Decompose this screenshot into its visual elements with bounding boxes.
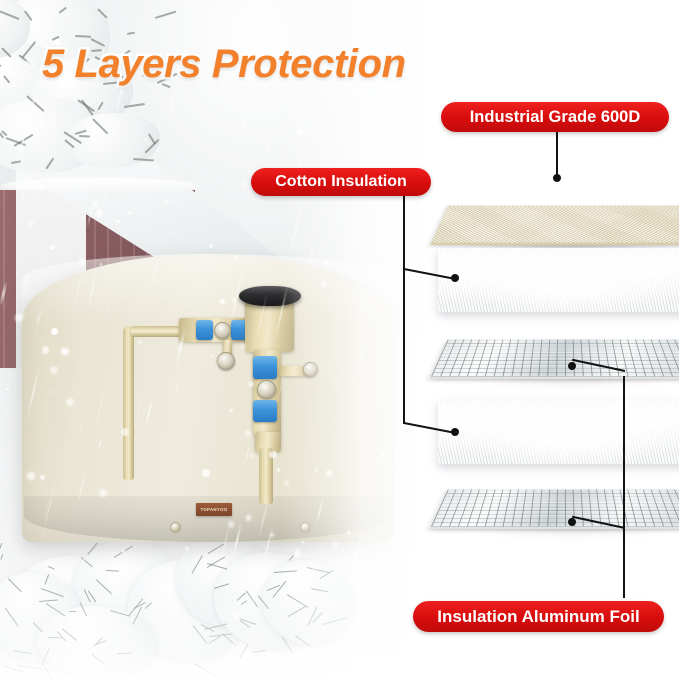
label-insulation-aluminum-foil[interactable]: Insulation Aluminum Foil bbox=[413, 601, 664, 632]
vertical-outlet-pipe bbox=[259, 448, 273, 504]
pine-needle bbox=[127, 31, 135, 34]
layer-2-cotton-insulation bbox=[438, 248, 679, 312]
layer-4-cotton-insulation bbox=[438, 400, 679, 464]
leader-dot-cotton-lower bbox=[451, 428, 459, 436]
blue-handle-left bbox=[196, 320, 213, 340]
bare-twig bbox=[0, 554, 4, 560]
pine-needle bbox=[155, 10, 177, 18]
blue-handle-mid-upper bbox=[253, 356, 277, 379]
bare-twig bbox=[0, 543, 3, 549]
snowy-pine-branches-top bbox=[0, 0, 220, 203]
leader-dot-600d bbox=[553, 174, 561, 182]
cover-grommet-left bbox=[170, 522, 181, 533]
page-title: 5 Layers Protection bbox=[42, 42, 406, 87]
label-cotton-insulation[interactable]: Cotton Insulation bbox=[251, 168, 431, 196]
leader-line-600d bbox=[556, 132, 558, 178]
layer-3-insulation-aluminum-foil bbox=[430, 340, 679, 379]
leader-spine-foil bbox=[623, 376, 625, 598]
scene-right-fade bbox=[280, 0, 430, 679]
brand-label-tag: TOPANYOO bbox=[196, 503, 232, 516]
label-industrial-grade-600d[interactable]: Industrial Grade 600D bbox=[441, 102, 669, 132]
infographic-canvas: TOPANYOO 5 Layers Protection Industrial … bbox=[0, 0, 679, 679]
leader-dot-cotton-upper bbox=[451, 274, 459, 282]
vertical-inlet-pipe bbox=[123, 332, 134, 480]
blue-handle-mid-lower bbox=[253, 400, 277, 422]
test-cock-left bbox=[214, 322, 231, 339]
test-cock-mid bbox=[257, 380, 276, 399]
scene-bottom-fade bbox=[0, 589, 430, 679]
leader-dot-foil-upper bbox=[568, 362, 576, 370]
leader-spine-cotton bbox=[403, 196, 405, 424]
horizontal-pipe bbox=[131, 326, 185, 337]
layer-stack-diagram bbox=[430, 130, 679, 630]
layer-1-industrial-grade-600d bbox=[430, 206, 679, 245]
test-cock-lower bbox=[217, 352, 235, 370]
layer-5-insulation-aluminum-foil bbox=[430, 490, 679, 529]
leader-dot-foil-lower bbox=[568, 518, 576, 526]
